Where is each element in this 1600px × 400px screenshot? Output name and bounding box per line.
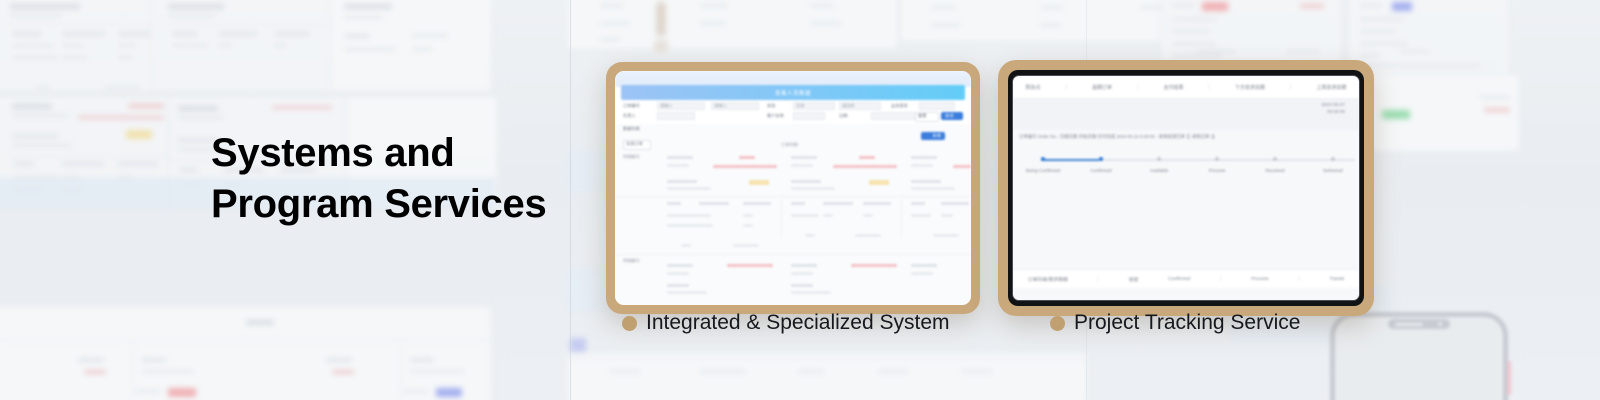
bottom-tab-2[interactable]: Confirmed: [1168, 277, 1190, 282]
tracking-date: 2024-05-07: [1322, 102, 1346, 109]
tracking-timestamp: 2024-05-07 00:00:00: [1322, 102, 1346, 116]
step-label-2: Available: [1150, 168, 1169, 173]
filter-value-1: 请输入: [714, 103, 727, 109]
phone-notch: [1388, 319, 1450, 329]
filter-value-0: 请输入: [660, 103, 673, 109]
hero-banner: Systems and Program Services 查看人员数据 订单编号…: [0, 0, 1600, 400]
tracking-tab-4[interactable]: 上周追求目期: [1316, 84, 1346, 91]
bottom-tab-0[interactable]: 订单列表/需求明细: [1028, 276, 1068, 283]
filter-label-4: 业务类型: [891, 103, 908, 109]
tracking-tab-3[interactable]: 下方追求目期: [1235, 84, 1265, 91]
filter-value-3: 请选择: [842, 103, 855, 109]
phone-side-button: [1507, 361, 1511, 395]
dashboard-title-text: 查看人员数据: [775, 89, 811, 97]
caption-integrated-system-label: Integrated & Specialized System: [646, 311, 950, 335]
page-title-line-2: Program Services: [211, 179, 546, 230]
step-label-0: Being Confirmed: [1026, 168, 1060, 173]
bottom-tab-1[interactable]: 进度: [1129, 276, 1139, 283]
tracking-meta-line: 订单编号 Order No.- 交期日期 开始日期-交付完成 2024-05-2…: [1019, 134, 1353, 140]
center-label: 订单明细: [781, 142, 798, 148]
tab-all-orders-label: 全部订单: [626, 141, 643, 147]
integrated-system-screenshot: 查看人员数据 订单编号 请输入 请输入 状态 全部 请选择 业务类型 负责人: [615, 71, 971, 305]
filter-label-3: 日期: [839, 113, 847, 119]
section-label: 数据列表: [623, 126, 640, 132]
tablet-bezel: 照会点 | 逾期订单 | 全付结果 | 下方追求目期 | 上周追求目期 2024…: [1008, 70, 1364, 306]
tracking-time: 00:00:00: [1322, 109, 1346, 116]
filter-label-0: 订单编号: [623, 103, 640, 109]
filter-label-2: 状态: [767, 103, 775, 109]
page-title-line-1: Systems and: [211, 128, 546, 179]
row-meta-label-2: 明细编号: [623, 258, 640, 264]
search-label: 查询: [945, 113, 953, 119]
add-label: 新增: [933, 133, 941, 139]
dashboard-filter-bar: 订单编号 请输入 请输入 状态 全部 请选择 业务类型 负责人 客户名称: [615, 100, 971, 125]
dashboard-title-bar: 查看人员数据: [621, 85, 965, 100]
phone-mockup: [1330, 312, 1508, 400]
step-label-3: Process: [1209, 168, 1226, 173]
caption-project-tracking: Project Tracking Service: [1050, 311, 1300, 335]
filter-value-2: 全部: [796, 103, 804, 109]
integrated-system-card[interactable]: 查看人员数据 订单编号 请输入 请输入 状态 全部 请选择 业务类型 负责人: [606, 62, 980, 314]
page-title: Systems and Program Services: [211, 128, 546, 230]
project-tracking-card[interactable]: 照会点 | 逾期订单 | 全付结果 | 下方追求目期 | 上周追求目期 2024…: [998, 60, 1374, 316]
step-label-4: Received: [1265, 168, 1284, 173]
tracking-tab-0[interactable]: 照会点: [1026, 84, 1041, 91]
reset-label: 重置: [918, 113, 926, 119]
bottom-tab-3[interactable]: Process: [1251, 277, 1268, 282]
tracking-tab-1[interactable]: 逾期订单: [1092, 84, 1112, 91]
caption-integrated-system: Integrated & Specialized System: [622, 311, 950, 335]
caption-project-tracking-label: Project Tracking Service: [1074, 311, 1300, 335]
step-label-1: Confirmed: [1090, 168, 1111, 173]
row-meta-label: 明细编号: [623, 154, 640, 160]
tracking-stepper: Being Confirmed Confirmed Available Proc…: [1023, 154, 1355, 180]
tracking-tab-bar[interactable]: 照会点 | 逾期订单 | 全付结果 | 下方追求目期 | 上周追求目期: [1013, 76, 1359, 99]
step-label-5: Delivered: [1323, 168, 1342, 173]
project-tracking-screenshot: 照会点 | 逾期订单 | 全付结果 | 下方追求目期 | 上周追求目期 2024…: [1012, 75, 1360, 301]
tracking-tab-2[interactable]: 全付结果: [1163, 84, 1183, 91]
filter-label-1: 客户名称: [767, 113, 784, 119]
bullet-dot-icon: [1050, 316, 1065, 331]
tracking-bottom-bar[interactable]: 订单列表/需求明细 | 进度 Confirmed | Process | Tra…: [1013, 269, 1359, 288]
bottom-tab-4[interactable]: Transit: [1330, 277, 1344, 282]
filter-label-5: 负责人: [623, 113, 636, 119]
bullet-dot-icon: [622, 316, 637, 331]
